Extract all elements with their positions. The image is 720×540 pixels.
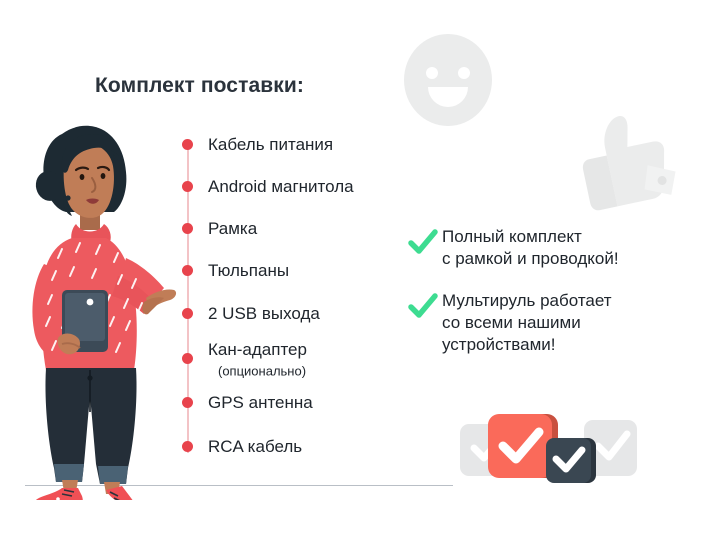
jeans	[45, 368, 136, 484]
list-item-label: Тюльпаны	[208, 261, 289, 281]
list-item-sublabel: (опционально)	[218, 364, 306, 379]
list-item-label: GPS антенна	[208, 393, 313, 413]
benefit-line: Полный комплект	[442, 226, 619, 248]
list-item-label: 2 USB выхода	[208, 304, 320, 324]
bullet-dot	[182, 265, 193, 276]
bullet-dot	[182, 139, 193, 150]
check-icon	[408, 292, 438, 320]
checkbox-card-navy	[546, 438, 596, 483]
avito-wordmark: Avito	[637, 504, 684, 525]
list-item-label: RCA кабель	[208, 437, 302, 457]
benefit-line: Мультируль работает	[442, 290, 612, 312]
avito-watermark: Avito	[612, 500, 708, 526]
list-item-label: Android магнитола	[208, 177, 354, 197]
bullet-dot	[182, 181, 193, 192]
page-title: Комплект поставки:	[95, 74, 304, 98]
benefit-text: Мультируль работает со всеми нашими устр…	[442, 290, 612, 356]
benefit-line: устройствами!	[442, 334, 612, 356]
bullet-dot	[182, 308, 193, 319]
list-item-label: Кабель питания	[208, 135, 333, 155]
thumbs-up-icon	[568, 108, 680, 213]
list-item-label: Рамка	[208, 219, 257, 239]
slide-canvas: Комплект поставки: Кабель питания Androi…	[0, 0, 720, 540]
jeans-cuff-right	[98, 466, 128, 484]
check-icon	[408, 228, 438, 256]
checkbox-cards-group	[458, 404, 638, 494]
benefit-text: Полный комплект с рамкой и проводкой!	[442, 226, 619, 270]
benefit-line: с рамкой и проводкой!	[442, 248, 619, 270]
bullet-dot	[182, 353, 193, 364]
bullet-dot	[182, 397, 193, 408]
sneakers	[35, 486, 137, 500]
smiley-face-icon	[402, 33, 494, 128]
benefit-line: со всеми нашими	[442, 312, 612, 334]
list-item-label: Кан-адаптер	[208, 340, 307, 360]
bullet-dot	[182, 441, 193, 452]
bullet-dot	[182, 223, 193, 234]
woman-pointing-illustration	[18, 112, 178, 500]
jeans-cuff-left	[54, 464, 84, 482]
